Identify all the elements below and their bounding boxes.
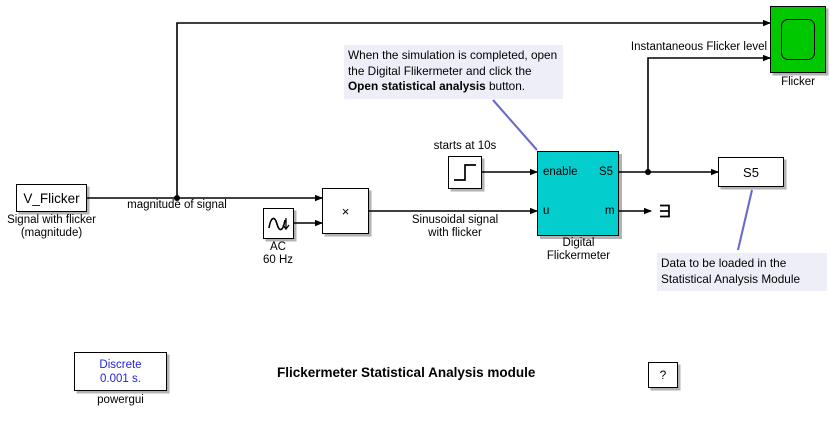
- block-step[interactable]: [448, 156, 482, 189]
- wire-s5-to-scope: [648, 58, 770, 172]
- simulink-model-canvas: V_Flicker Signal with flicker (magnitude…: [0, 0, 830, 421]
- block-v-flicker[interactable]: V_Flicker: [16, 184, 87, 212]
- block-flicker-scope[interactable]: [770, 6, 826, 73]
- port-label-s5: S5: [599, 166, 613, 178]
- block-powergui-caption: powergui: [70, 394, 171, 407]
- port-label-u: u: [543, 205, 549, 217]
- signal-label-sinusoidal-signal: Sinusoidal signal with flicker: [395, 214, 515, 240]
- powergui-sample-time: 0.001 s.: [100, 372, 141, 386]
- annotation-data-line2: Statistical Analysis Module: [661, 272, 823, 288]
- powergui-solver-type: Discrete: [99, 358, 141, 372]
- signal-label-instantaneous-flicker: Instantaneous Flicker level: [604, 41, 794, 54]
- block-digital-flickermeter-caption: Digital Flickermeter: [528, 237, 629, 263]
- block-ac-source-caption: AC 60 Hz: [238, 241, 318, 267]
- block-product-symbol: ×: [342, 204, 350, 219]
- annotation-open-tail: button.: [486, 79, 525, 93]
- signal-label-magnitude-of-signal: magnitude of signal: [117, 199, 237, 212]
- block-powergui[interactable]: Discrete 0.001 s.: [74, 352, 167, 391]
- block-v-flicker-text: V_Flicker: [23, 191, 79, 206]
- annotation-open-line3: Open statistical analysis button.: [348, 79, 559, 95]
- annotation-data-to-be-loaded: Data to be loaded in the Statistical Ana…: [657, 253, 827, 291]
- terminator-icon: [660, 206, 669, 217]
- sine-wave-icon: [266, 211, 292, 237]
- block-flicker-scope-caption: Flicker: [758, 76, 830, 89]
- annotation-open-bold: Open statistical analysis: [348, 79, 486, 93]
- block-ac-source[interactable]: [263, 208, 294, 239]
- block-product[interactable]: ×: [322, 188, 369, 234]
- block-step-caption: starts at 10s: [410, 140, 520, 153]
- block-s5-tofile[interactable]: S5: [718, 157, 784, 187]
- leader-line-data-loaded: [738, 190, 752, 250]
- help-button[interactable]: ?: [648, 362, 678, 388]
- page-title: Flickermeter Statistical Analysis module: [277, 365, 535, 380]
- port-label-m: m: [605, 205, 615, 217]
- block-v-flicker-caption: Signal with flicker (magnitude): [0, 214, 103, 240]
- annotation-data-line1: Data to be loaded in the: [661, 256, 823, 272]
- junction-dot-s5: [645, 169, 651, 175]
- help-button-label: ?: [660, 368, 667, 382]
- block-s5-text: S5: [743, 165, 759, 180]
- annotation-open-line2: the Digital Flikermeter and click the: [348, 64, 559, 80]
- block-digital-flickermeter[interactable]: [537, 151, 619, 236]
- annotation-open-statistical-analysis: When the simulation is completed, open t…: [344, 45, 563, 99]
- step-function-icon: [451, 159, 479, 186]
- annotation-open-line1: When the simulation is completed, open: [348, 48, 559, 64]
- port-label-enable: enable: [543, 166, 578, 178]
